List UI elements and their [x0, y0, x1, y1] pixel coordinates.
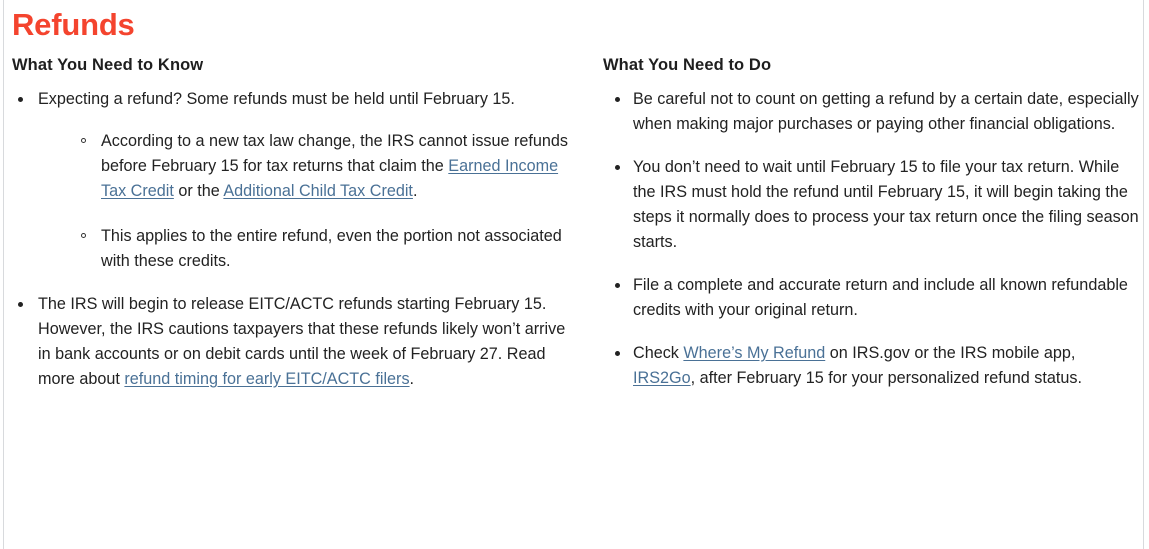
bullet-text-run: .	[413, 182, 418, 200]
bullet-item: Check Where’s My Refund on IRS.gov or th…	[586, 341, 1149, 391]
know-bullet-list: Expecting a refund? Some refunds must be…	[0, 87, 586, 392]
bullet-text: Check Where’s My Refund on IRS.gov or th…	[633, 344, 1082, 387]
page-content: Refunds What You Need to Know Expecting …	[0, 0, 1149, 549]
sub-bullet-group: According to a new tax law change, the I…	[69, 129, 580, 274]
bullet-text: Expecting a refund? Some refunds must be…	[38, 90, 515, 108]
inline-link[interactable]: refund timing for early EITC/ACTC filers	[124, 370, 409, 388]
section-heading-do: What You Need to Do	[586, 54, 1149, 76]
inline-link[interactable]: Additional Child Tax Credit	[223, 182, 413, 200]
what-you-need-to-know-column: What You Need to Know Expecting a refund…	[0, 54, 586, 392]
bullet-text-run: or the	[174, 182, 224, 200]
inline-link[interactable]: IRS2Go	[633, 369, 691, 387]
sub-bullet-list: According to a new tax law change, the I…	[69, 129, 580, 274]
bullet-text-run: , after February 15 for your personalize…	[691, 369, 1082, 387]
bullet-text: You don’t need to wait until February 15…	[633, 158, 1139, 251]
bullet-item: Be careful not to count on getting a ref…	[586, 87, 1149, 137]
page-title: Refunds	[0, 6, 1149, 44]
bullet-text-run: .	[410, 370, 415, 388]
bullet-text-run: Check	[633, 344, 683, 362]
bullet-item: Expecting a refund? Some refunds must be…	[0, 87, 586, 274]
bullet-item: File a complete and accurate return and …	[586, 273, 1149, 323]
sub-bullet-item: According to a new tax law change, the I…	[69, 129, 580, 204]
bullet-text: The IRS will begin to release EITC/ACTC …	[38, 295, 565, 388]
bullet-text: Be careful not to count on getting a ref…	[633, 90, 1139, 133]
bullet-text-run: You don’t need to wait until February 15…	[633, 158, 1139, 251]
section-heading-know: What You Need to Know	[0, 54, 586, 76]
bullet-text: According to a new tax law change, the I…	[101, 132, 568, 200]
bullet-text: File a complete and accurate return and …	[633, 276, 1128, 319]
bullet-text-run: This applies to the entire refund, even …	[101, 227, 562, 270]
what-you-need-to-do-column: What You Need to Do Be careful not to co…	[586, 54, 1149, 391]
bullet-text-run: File a complete and accurate return and …	[633, 276, 1128, 319]
bullet-text-run: Expecting a refund? Some refunds must be…	[38, 90, 515, 108]
do-bullet-list: Be careful not to count on getting a ref…	[586, 87, 1149, 391]
refunds-page: Refunds What You Need to Know Expecting …	[0, 0, 1149, 549]
bullet-text: This applies to the entire refund, even …	[101, 227, 562, 270]
two-column-layout: What You Need to Know Expecting a refund…	[0, 54, 1149, 392]
bullet-text-run: on IRS.gov or the IRS mobile app,	[825, 344, 1075, 362]
inline-link[interactable]: Where’s My Refund	[683, 344, 825, 362]
bullet-item: You don’t need to wait until February 15…	[586, 155, 1149, 255]
bullet-item: The IRS will begin to release EITC/ACTC …	[0, 292, 586, 392]
bullet-text-run: Be careful not to count on getting a ref…	[633, 90, 1139, 133]
sub-bullet-item: This applies to the entire refund, even …	[69, 224, 580, 274]
